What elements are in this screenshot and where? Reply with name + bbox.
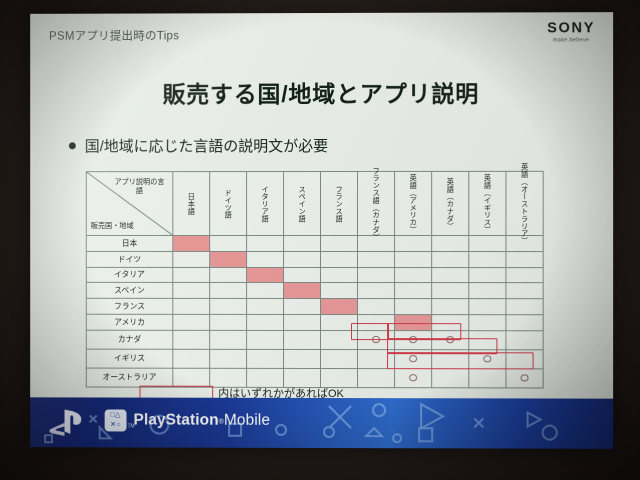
matrix-cell — [506, 236, 543, 252]
column-header: イタリア語 — [247, 172, 284, 236]
matrix-cell — [173, 349, 210, 368]
matrix-cell — [358, 251, 395, 267]
matrix-cell — [506, 251, 543, 267]
matrix-cell — [506, 267, 543, 283]
matrix-cell — [469, 315, 506, 331]
row-header: カナダ — [86, 330, 173, 349]
matrix-cell — [358, 299, 395, 315]
row-header: イタリア — [86, 267, 173, 283]
bullet-text: 国/地域に応じた言語の説明文が必要 — [85, 138, 328, 155]
matrix-cell — [506, 283, 543, 299]
matrix-cell — [432, 368, 469, 387]
row-header: スペイン — [86, 283, 173, 299]
matrix-cell — [469, 251, 506, 267]
column-header-label: 英語（イギリス） — [483, 174, 491, 233]
column-header: フランス語 — [321, 171, 358, 235]
matrix-cell — [173, 314, 210, 330]
projector-photo: PSMアプリ提出時のTips SONY make.believe 販売する国/地… — [0, 0, 640, 480]
circle-mark-icon — [410, 336, 417, 343]
matrix-cell — [432, 236, 469, 252]
circle-mark-icon — [447, 336, 454, 343]
matrix-cell — [506, 299, 543, 315]
matrix-cell-highlighted — [395, 315, 432, 331]
matrix-cell-circle — [358, 330, 395, 349]
matrix-cell — [469, 330, 506, 349]
row-axis-label: 販売国・地域 — [91, 221, 134, 231]
matrix-cell — [210, 330, 247, 349]
matrix-cell — [358, 267, 395, 283]
matrix-cell — [321, 314, 358, 330]
matrix-cell — [284, 349, 321, 368]
matrix-cell — [506, 350, 543, 369]
playstation-logo-icon — [47, 406, 91, 436]
sony-tagline: make.believe — [547, 37, 595, 43]
matrix-cell — [173, 267, 210, 283]
matrix-cell-highlighted — [321, 299, 358, 315]
matrix-cell — [506, 315, 543, 331]
matrix-cell — [210, 283, 247, 299]
sony-wordmark: SONY — [547, 20, 595, 36]
column-axis-label: アプリ説明の言語 — [112, 177, 168, 195]
matrix-cell — [284, 235, 321, 251]
matrix-cell — [395, 299, 432, 315]
slide-title: 販売する国/地域とアプリ説明 — [30, 74, 613, 109]
circle-mark-icon — [410, 355, 417, 362]
column-header-label: 英語（オーストラリア） — [520, 163, 528, 245]
column-header-label: イタリア語 — [261, 185, 269, 222]
matrix-cell-highlighted — [210, 251, 247, 267]
table-row: 日本 — [86, 235, 543, 251]
footer-product-suffix: Mobile — [224, 412, 270, 429]
matrix-cell-highlighted — [247, 267, 284, 283]
matrix-cell — [321, 236, 358, 252]
table-row: イタリア — [86, 267, 543, 283]
matrix-cell — [284, 251, 321, 267]
slide-bullet: 国/地域に応じた言語の説明文が必要 — [69, 135, 328, 156]
column-header-label: ドイツ語 — [224, 189, 232, 219]
matrix-cell — [432, 315, 469, 331]
matrix-cell — [321, 267, 358, 283]
matrix-cell — [432, 267, 469, 283]
slide-footer: □△✕○ TM PlayStation®Mobile — [30, 397, 613, 449]
matrix-cell — [173, 283, 210, 299]
column-header-label: 英語（アメリカ） — [409, 174, 417, 233]
table-row: イギリス — [86, 349, 543, 369]
matrix-cell — [247, 349, 284, 368]
matrix-cell — [395, 251, 432, 267]
matrix-cell — [358, 349, 395, 368]
matrix-cell — [173, 330, 210, 349]
matrix-cell — [247, 299, 284, 315]
table-row: アメリカ — [86, 314, 543, 330]
matrix-cell — [469, 369, 506, 388]
matrix-cell — [284, 299, 321, 315]
matrix-cell — [321, 330, 358, 349]
footer-product-name: PlayStation — [133, 412, 218, 429]
matrix-cell — [173, 299, 210, 315]
column-header-label: 英語（カナダ） — [446, 177, 454, 229]
matrix-cell — [173, 251, 210, 267]
playstation-mobile-mark-icon: □△✕○ — [105, 409, 127, 431]
column-header-label: フランス語 — [335, 185, 343, 222]
matrix-cell — [469, 267, 506, 283]
circle-mark-icon — [484, 355, 491, 362]
row-header: アメリカ — [86, 314, 173, 330]
matrix-cell — [210, 267, 247, 283]
matrix-cell — [506, 331, 543, 350]
column-header: フランス語（カナダ） — [358, 171, 395, 235]
matrix-cell-circle — [395, 368, 432, 387]
matrix-cell — [358, 368, 395, 387]
matrix-cell — [321, 349, 358, 368]
matrix-cell — [321, 251, 358, 267]
matrix-cell — [395, 236, 432, 252]
matrix-cell — [432, 349, 469, 368]
matrix-cell — [432, 299, 469, 315]
table-header-row: アプリ説明の言語 販売国・地域 日本語ドイツ語イタリア語スペイン語フランス語フラ… — [86, 171, 543, 235]
matrix-cell — [358, 236, 395, 252]
matrix-cell-highlighted — [284, 283, 321, 299]
column-header: 英語（カナダ） — [432, 171, 469, 235]
matrix-cell-circle — [395, 330, 432, 349]
circle-mark-icon — [521, 374, 528, 381]
column-header-label: 日本語 — [187, 192, 195, 214]
column-header: 日本語 — [173, 172, 210, 236]
row-header: ドイツ — [86, 251, 173, 267]
matrix-cell — [210, 299, 247, 315]
table-row: スペイン — [86, 283, 543, 299]
matrix-cell — [395, 283, 432, 299]
matrix-cell — [469, 283, 506, 299]
row-header: 日本 — [86, 235, 173, 251]
matrix-cell — [432, 283, 469, 299]
language-matrix-table: アプリ説明の言語 販売国・地域 日本語ドイツ語イタリア語スペイン語フランス語フラ… — [86, 171, 544, 388]
column-header: 英語（オーストラリア） — [506, 171, 543, 235]
matrix-cell — [321, 283, 358, 299]
matrix-cell-highlighted — [173, 235, 210, 251]
column-header-label: フランス語（カナダ） — [372, 166, 380, 240]
matrix-cell — [358, 315, 395, 331]
matrix-cell — [210, 314, 247, 330]
column-header-label: スペイン語 — [298, 185, 306, 222]
bullet-dot-icon — [69, 142, 76, 149]
matrix-cell — [395, 267, 432, 283]
matrix-cell — [247, 283, 284, 299]
sony-logo: SONY make.believe — [547, 20, 595, 43]
slide-header-label: PSMアプリ提出時のTips — [49, 27, 179, 43]
matrix-cell — [247, 314, 284, 330]
row-header: イギリス — [86, 349, 173, 368]
matrix-cell-circle — [506, 369, 543, 388]
playstation-mobile-wordmark: PlayStation®Mobile — [133, 412, 270, 430]
matrix-cell — [210, 235, 247, 251]
table-body: 日本ドイツイタリアスペインフランスアメリカカナダイギリスオーストラリア — [86, 235, 543, 387]
circle-mark-icon — [410, 374, 417, 381]
matrix-corner-cell: アプリ説明の言語 販売国・地域 — [86, 172, 173, 236]
matrix-cell — [284, 330, 321, 349]
matrix-cell — [284, 267, 321, 283]
matrix-cell — [247, 235, 284, 251]
column-header: ドイツ語 — [210, 172, 247, 236]
matrix-cell — [469, 236, 506, 252]
column-header: 英語（アメリカ） — [395, 171, 432, 235]
matrix-cell — [432, 251, 469, 267]
matrix-cell — [469, 299, 506, 315]
row-header: フランス — [86, 298, 173, 314]
playstation-mobile-mark-glyphs: □△✕○ — [105, 409, 127, 431]
table-row: カナダ — [86, 330, 543, 350]
table-row: ドイツ — [86, 251, 543, 267]
matrix-cell — [247, 251, 284, 267]
matrix-cell-circle — [395, 349, 432, 368]
matrix-cell — [284, 314, 321, 330]
circle-mark-icon — [372, 336, 379, 343]
matrix-cell — [210, 349, 247, 368]
matrix-cell-circle — [432, 330, 469, 349]
matrix-cell-circle — [469, 350, 506, 369]
matrix-cell — [358, 283, 395, 299]
table-row: フランス — [86, 298, 543, 314]
presentation-slide: PSMアプリ提出時のTips SONY make.believe 販売する国/地… — [30, 12, 613, 449]
language-matrix: アプリ説明の言語 販売国・地域 日本語ドイツ語イタリア語スペイン語フランス語フラ… — [86, 171, 544, 388]
column-header: 英語（イギリス） — [469, 171, 506, 235]
matrix-cell — [247, 330, 284, 349]
column-header: スペイン語 — [284, 172, 321, 236]
